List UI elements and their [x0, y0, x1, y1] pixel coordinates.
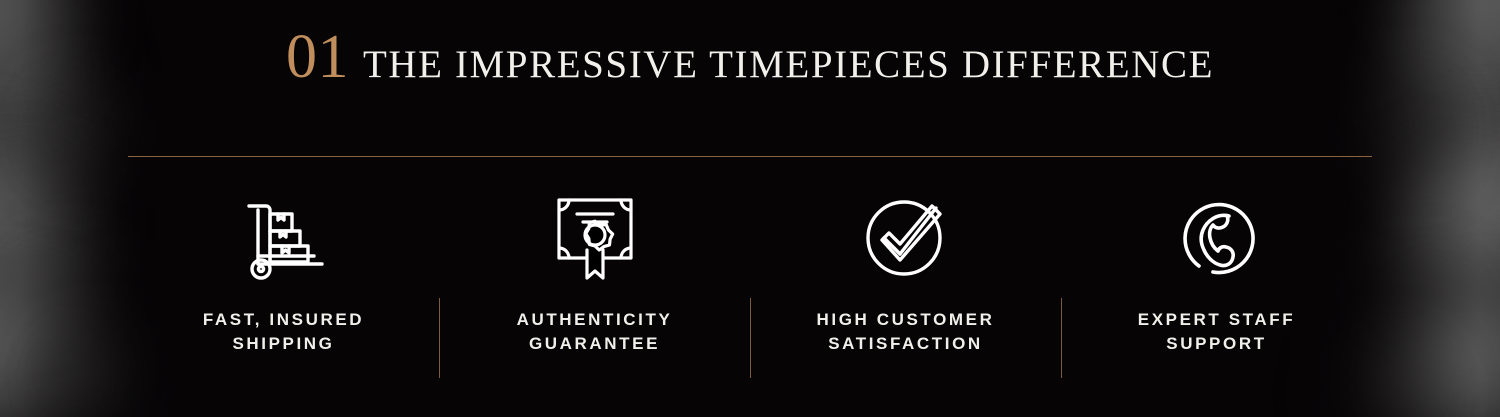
feature-label: HIGH CUSTOMER SATISFACTION: [817, 308, 995, 356]
section-number: 01: [286, 23, 349, 91]
section-heading: 01THE IMPRESSIVE TIMEPIECES DIFFERENCE: [0, 26, 1500, 88]
feature-item-support[interactable]: EXPERT STAFF SUPPORT: [1061, 186, 1372, 356]
hand-truck-boxes-icon: [236, 186, 332, 286]
promo-banner: 01THE IMPRESSIVE TIMEPIECES DIFFERENCE: [0, 0, 1500, 417]
page-title: THE IMPRESSIVE TIMEPIECES DIFFERENCE: [363, 43, 1214, 86]
feature-item-shipping[interactable]: FAST, INSURED SHIPPING: [128, 186, 439, 356]
check-circle-icon: [858, 186, 954, 286]
certificate-seal-icon: [547, 186, 643, 286]
feature-label: EXPERT STAFF SUPPORT: [1138, 308, 1295, 356]
feature-item-satisfaction[interactable]: HIGH CUSTOMER SATISFACTION: [750, 186, 1061, 356]
feature-label: AUTHENTICITY GUARANTEE: [517, 308, 673, 356]
feature-item-authenticity[interactable]: AUTHENTICITY GUARANTEE: [439, 186, 750, 356]
phone-handset-circle-icon: [1169, 186, 1265, 286]
feature-list: FAST, INSURED SHIPPING: [128, 186, 1372, 356]
heading-divider: [128, 156, 1372, 157]
feature-label: FAST, INSURED SHIPPING: [203, 308, 364, 356]
